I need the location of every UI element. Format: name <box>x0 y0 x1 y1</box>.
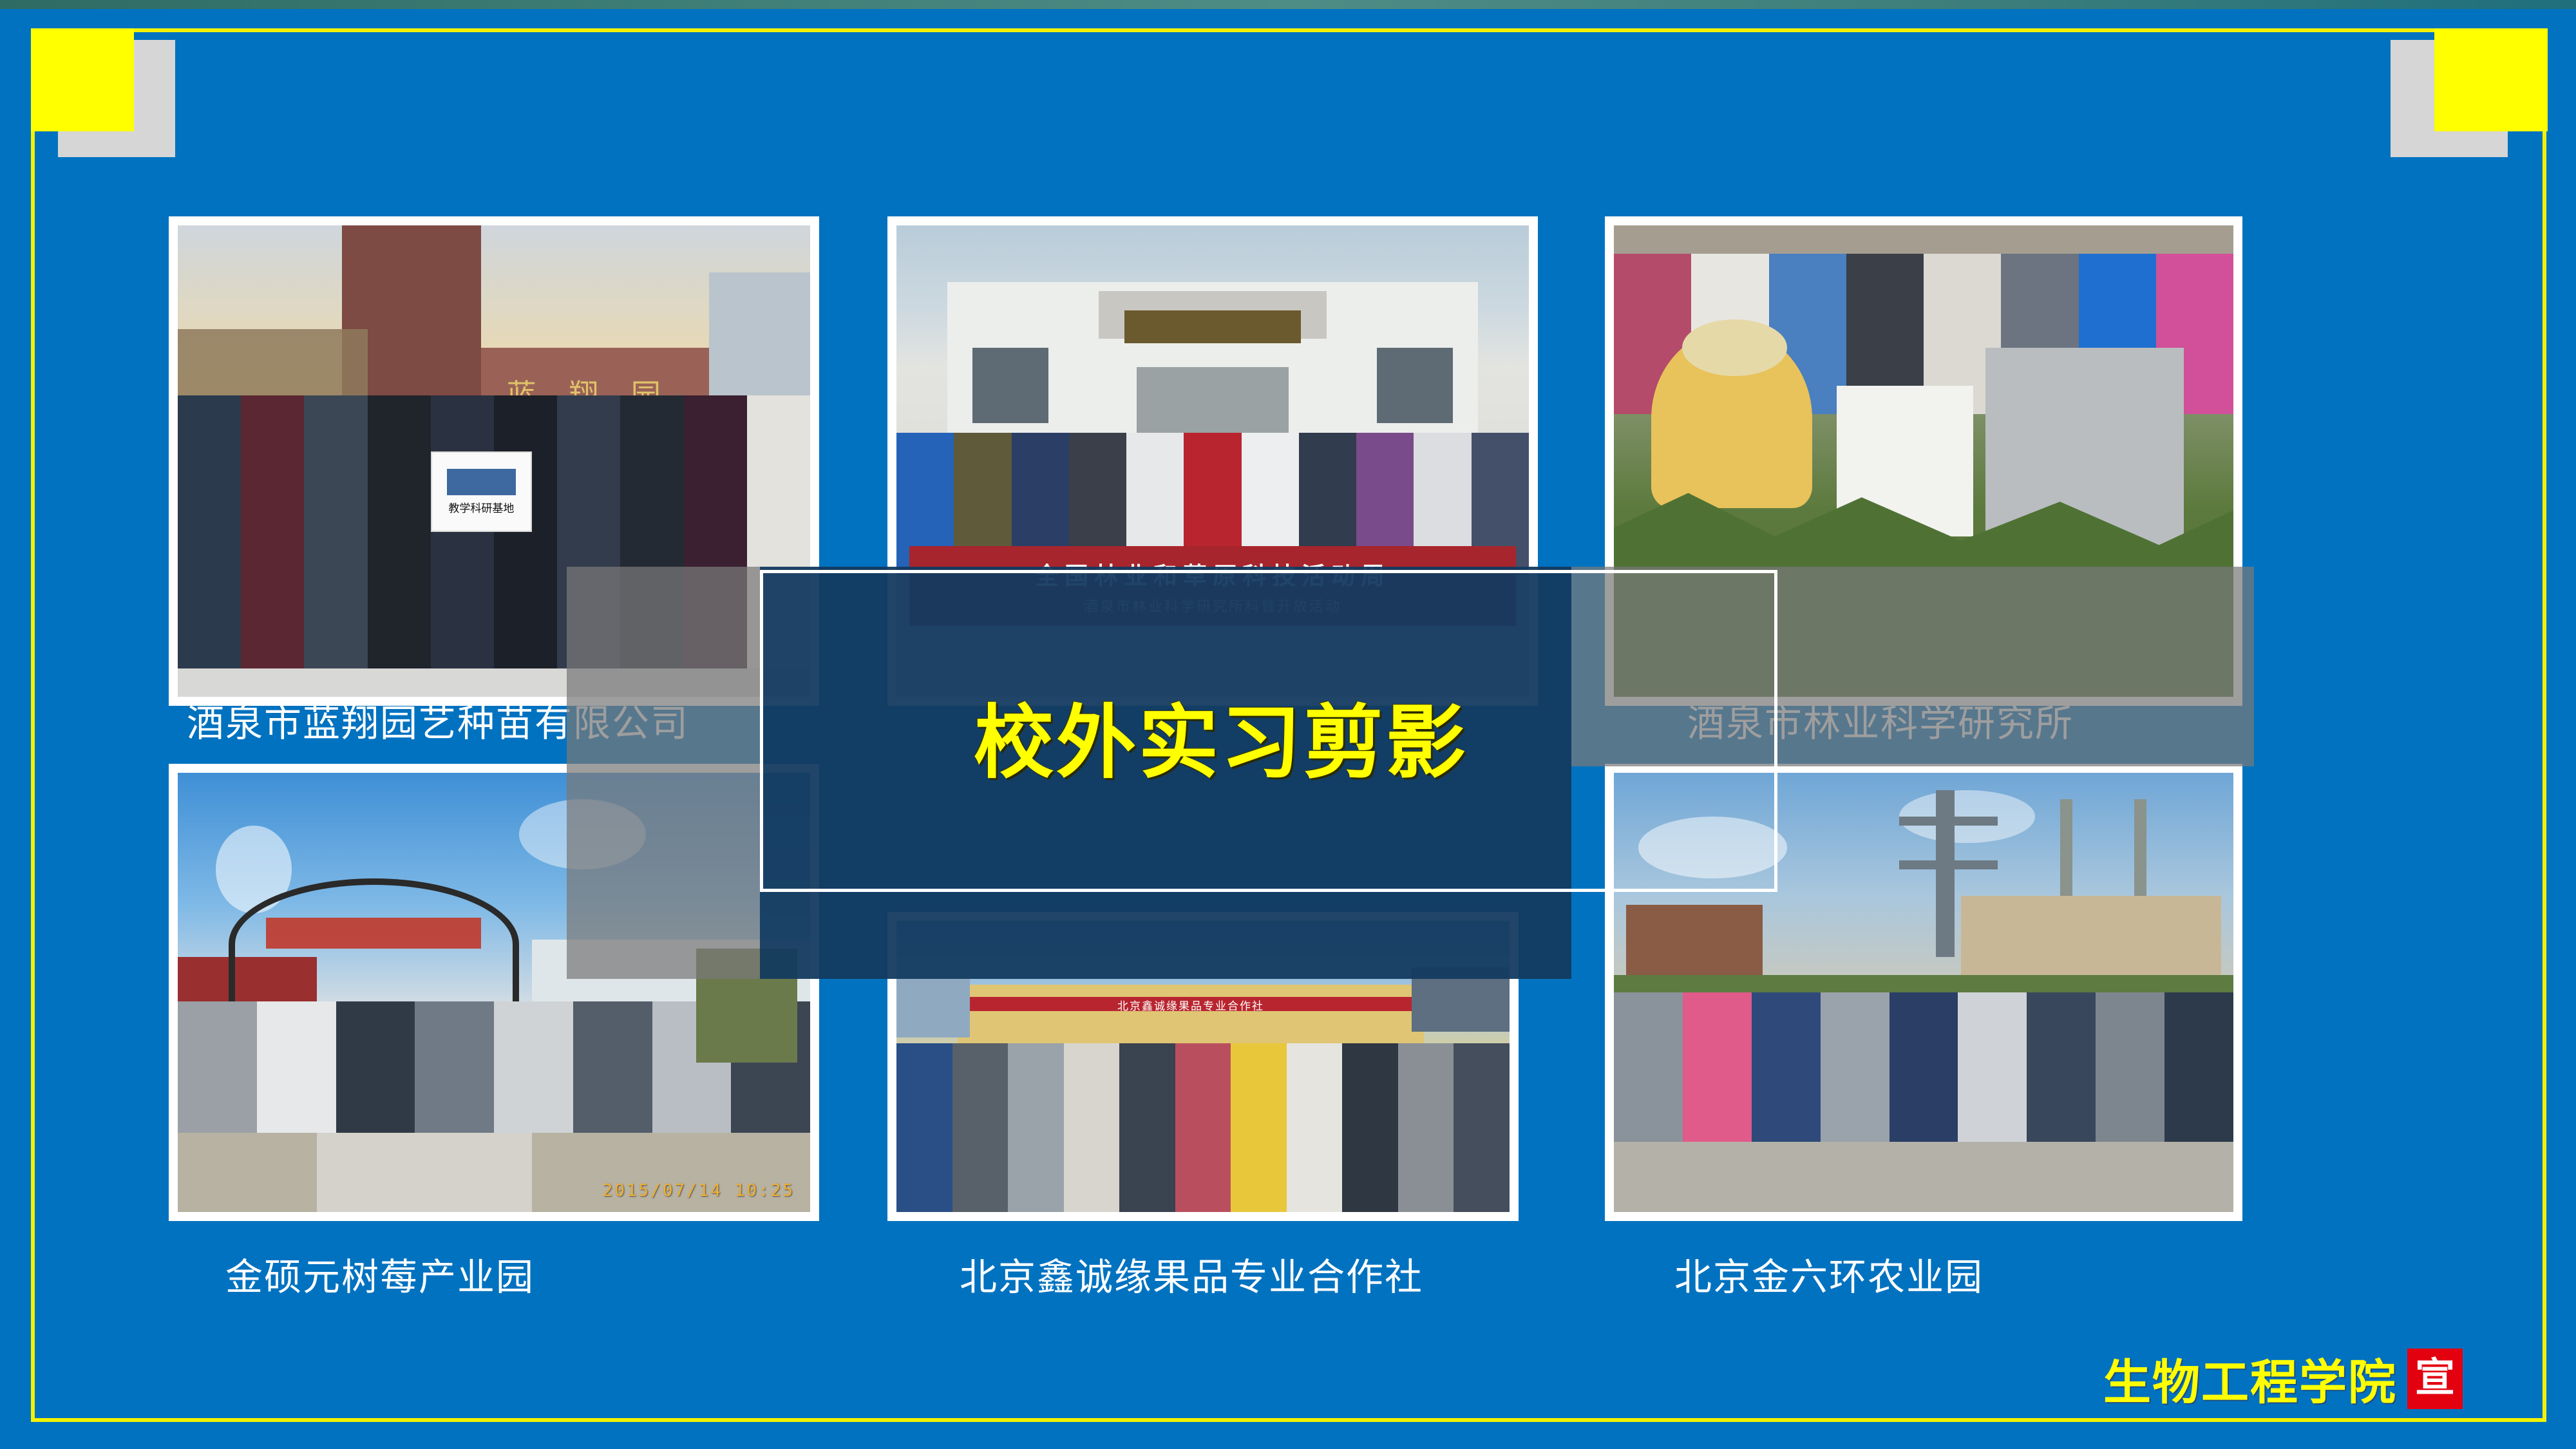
caption-xinchengyuan: 北京鑫诚缘果品专业合作社 <box>960 1247 1423 1301</box>
footer-organization-name: 生物工程学院 <box>2103 1344 2397 1413</box>
photo-lanxiang-sign-text: 教学科研基地 <box>448 499 514 515</box>
footer-brand: 生物工程学院 宣 <box>2103 1344 2463 1413</box>
photo-jinshuoyuan-timestamp: 2015/07/14 10:25 <box>603 1181 795 1200</box>
top-gradient-strip <box>0 0 2576 9</box>
footer-announcement-badge: 宣 <box>2407 1349 2463 1409</box>
photo-xinchengyuan-banner: 北京鑫诚缘果品专业合作社 <box>970 997 1411 1012</box>
page-title: 校外实习剪影 <box>974 677 1468 793</box>
caption-jinshuoyuan: 金硕元树莓产业园 <box>225 1247 535 1301</box>
caption-jinliuhuan: 北京金六环农业园 <box>1674 1247 1984 1301</box>
